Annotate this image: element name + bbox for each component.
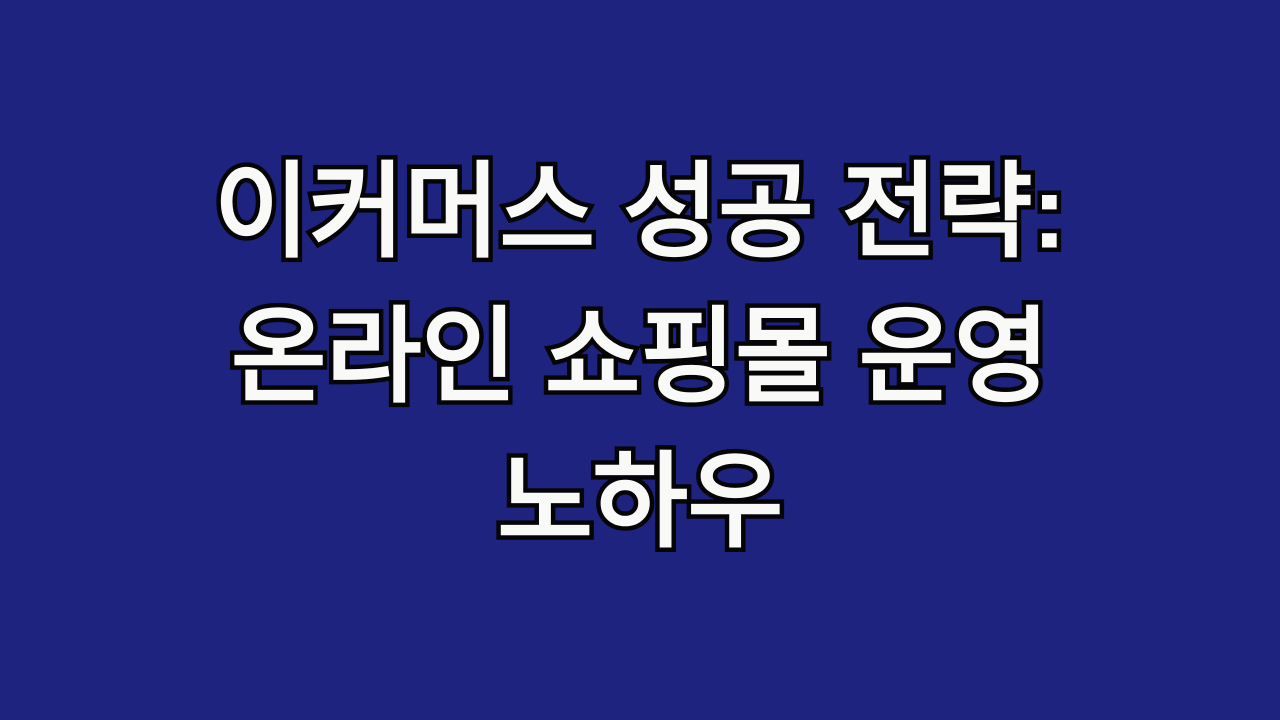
title-line-2: 온라인 쇼핑몰 운영: [36, 286, 1244, 431]
title-line-3: 노하우: [36, 431, 1244, 576]
title-block: 이커머스 성공 전략: 온라인 쇼핑몰 운영 노하우: [0, 141, 1280, 576]
title-line-1: 이커머스 성공 전략:: [36, 141, 1244, 286]
poster-background: 이커머스 성공 전략: 온라인 쇼핑몰 운영 노하우: [0, 0, 1280, 720]
